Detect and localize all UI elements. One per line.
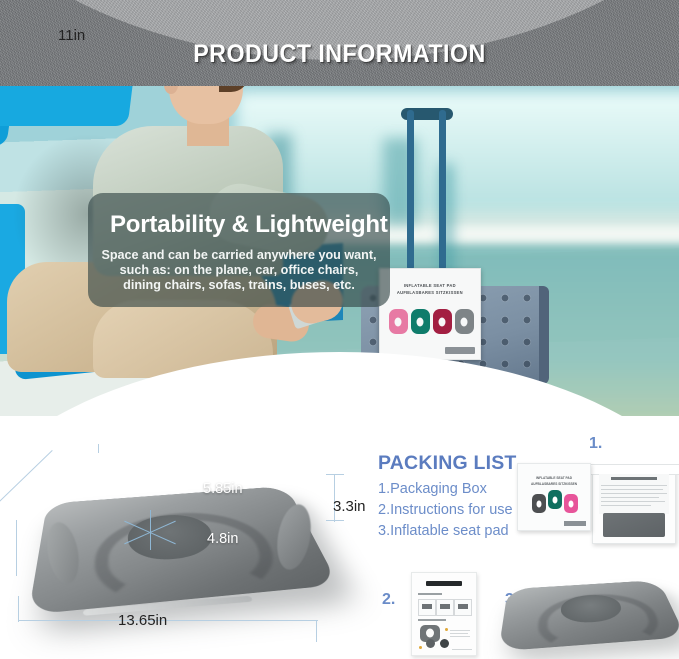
instruction-sheet-photo bbox=[411, 572, 477, 656]
closed-box-label-line1: INFLATABLE SEAT PAD bbox=[518, 476, 590, 480]
package-label-line2: AUFBLASBARES SITZKISSEN bbox=[380, 290, 480, 295]
feature-body-line-1: Space and can be carried anywhere you wa… bbox=[100, 248, 378, 263]
closed-box-label-line2: AUFBLASBARES SITZKISSEN bbox=[518, 482, 590, 486]
retail-package: INFLATABLE SEAT PAD AUFBLASBARES SITZKIS… bbox=[379, 268, 481, 360]
closed-box-swatch-dark bbox=[532, 494, 546, 513]
package-swatch-pink bbox=[389, 309, 408, 334]
dimension-tick-top bbox=[98, 444, 99, 453]
feature-body-line-2: such as: on the plane, car, office chair… bbox=[100, 263, 378, 278]
dimension-tick-right-top bbox=[326, 474, 344, 475]
airport-seat-back bbox=[0, 86, 138, 126]
inflated-cushion-photo bbox=[505, 565, 673, 657]
package-swatch-teal bbox=[411, 309, 430, 334]
dimension-label-height: 3.3in bbox=[333, 498, 366, 515]
instruction-dot-a bbox=[426, 639, 435, 648]
packing-list-item-3: 3.Inflatable seat pad bbox=[378, 521, 517, 542]
dimension-label-width-bottom: 13.65in bbox=[118, 612, 167, 629]
instruction-dot-b bbox=[440, 639, 449, 648]
dimension-tick-bottom-left bbox=[18, 596, 19, 622]
packing-list: PACKING LIST 1.Packaging Box 2.Instructi… bbox=[378, 452, 517, 542]
dimension-tick-right-bottom bbox=[326, 520, 344, 521]
packing-list-item-2: 2.Instructions for use bbox=[378, 500, 517, 521]
package-badge bbox=[445, 347, 475, 354]
closed-box-photo: INFLATABLE SEAT PAD AUFBLASBARES SITZKIS… bbox=[517, 463, 591, 531]
suitcase-edge bbox=[539, 286, 549, 384]
dimension-diagram bbox=[0, 424, 370, 659]
open-box-photo bbox=[592, 468, 676, 544]
dimension-label-hole-outer: 5.85in bbox=[203, 481, 243, 497]
open-box-folded-pad bbox=[603, 513, 665, 537]
dimension-line-bottom bbox=[18, 620, 318, 621]
feature-body: Space and can be carried anywhere you wa… bbox=[88, 248, 390, 293]
suitcase-handle-right bbox=[439, 110, 446, 270]
instruction-sheet-title-bar bbox=[426, 581, 462, 586]
product-information-infographic: PRODUCT INFORMATION bbox=[0, 0, 679, 659]
feature-body-line-3: dining chairs, sofas, trains, buses, etc… bbox=[100, 278, 378, 293]
packing-list-title: PACKING LIST bbox=[378, 452, 517, 475]
dimension-tick-bottom-right bbox=[316, 620, 317, 642]
cushion-product-photo bbox=[42, 464, 314, 616]
package-swatch-gray bbox=[455, 309, 474, 334]
closed-box-badge bbox=[564, 521, 586, 526]
open-box-sheet-header bbox=[611, 477, 657, 480]
suitcase-handle-left bbox=[407, 110, 414, 270]
package-label-line1: INFLATABLE SEAT PAD bbox=[380, 283, 480, 288]
feature-overlay-card: Portability & Lightweight Space and can … bbox=[88, 193, 390, 307]
closed-box-swatch-pink bbox=[564, 494, 578, 513]
packing-list-items: 1.Packaging Box 2.Instructions for use 3… bbox=[378, 479, 517, 542]
feature-heading: Portability & Lightweight bbox=[88, 211, 390, 239]
dimension-label-hole-inner: 4.8in bbox=[207, 531, 238, 547]
marker-1: 1. bbox=[589, 435, 602, 453]
packing-list-item-1: 1.Packaging Box bbox=[378, 479, 517, 500]
hole-crosshair-c bbox=[150, 510, 151, 550]
dimension-label-width-top: 11in bbox=[58, 27, 85, 44]
dimension-line-left bbox=[16, 520, 17, 576]
marker-2: 2. bbox=[382, 591, 395, 609]
page-title: PRODUCT INFORMATION bbox=[24, 40, 655, 69]
closed-box-swatch-teal bbox=[548, 490, 562, 509]
package-swatch-red bbox=[433, 309, 452, 334]
